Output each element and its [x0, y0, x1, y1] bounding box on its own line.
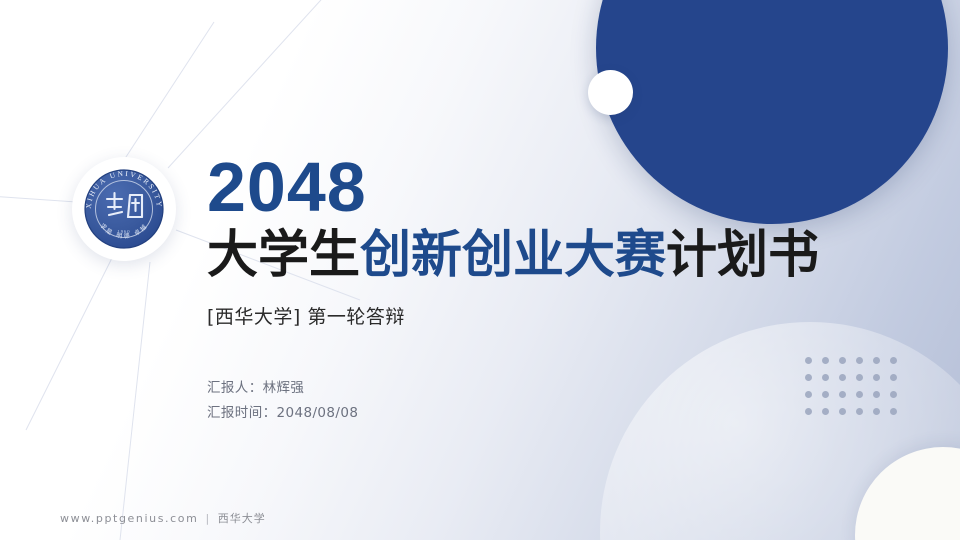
xihua-university-seal-icon: XIHUA UNIVERSITY 求是 明德 卓越 1960 [78, 163, 170, 255]
grid-dot [890, 408, 897, 415]
grid-dot [856, 357, 863, 364]
presentation-meta: 汇报人：林辉强 汇报时间：2048/08/08 [207, 376, 847, 426]
footer: www.pptgenius.com|西华大学 [60, 510, 266, 526]
date-line: 汇报时间：2048/08/08 [207, 401, 847, 426]
grid-dot [890, 391, 897, 398]
grid-dot [873, 374, 880, 381]
presenter-line: 汇报人：林辉强 [207, 376, 847, 401]
grid-dot [890, 357, 897, 364]
title-segment-1: 大学生 [207, 226, 360, 285]
page-title: 大学生创新创业大赛计划书 [207, 228, 847, 283]
grid-dot [890, 374, 897, 381]
title-text-block: 2048 大学生创新创业大赛计划书 [西华大学] 第一轮答辩 汇报人：林辉强 汇… [207, 152, 847, 426]
grid-dot [856, 374, 863, 381]
svg-text:1960: 1960 [117, 229, 130, 234]
university-logo: XIHUA UNIVERSITY 求是 明德 卓越 1960 [72, 157, 176, 261]
grid-dot [856, 391, 863, 398]
subtitle: [西华大学] 第一轮答辩 [207, 302, 847, 329]
grid-dot [873, 408, 880, 415]
footer-organization: 西华大学 [218, 512, 266, 525]
grid-dot [873, 391, 880, 398]
title-segment-3: 计划书 [666, 226, 819, 285]
title-segment-2: 创新创业大赛 [360, 226, 666, 285]
footer-separator: | [205, 512, 210, 525]
year-heading: 2048 [207, 152, 847, 222]
grid-dot [856, 408, 863, 415]
decorative-white-circle [588, 70, 633, 115]
presentation-title-slide: XIHUA UNIVERSITY 求是 明德 卓越 1960 2048 大 [0, 0, 960, 540]
footer-website: www.pptgenius.com [60, 512, 198, 525]
grid-dot [873, 357, 880, 364]
